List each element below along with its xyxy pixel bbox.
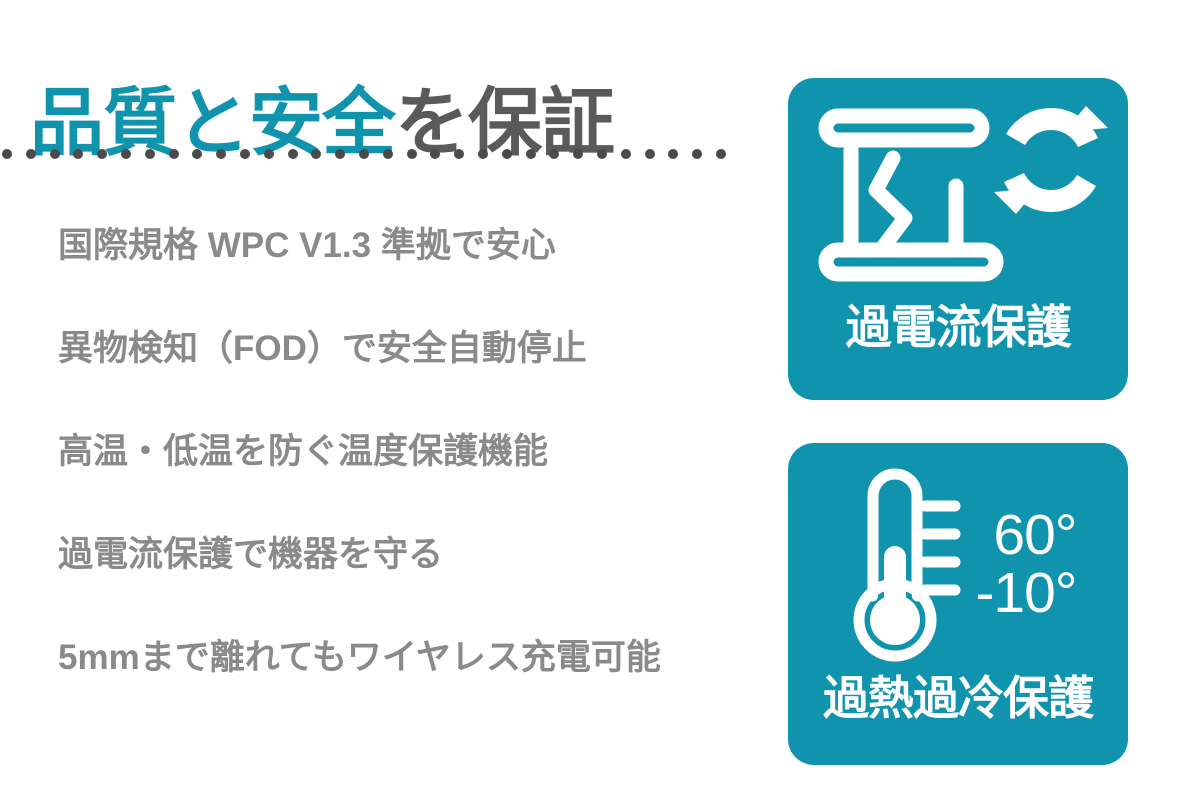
divider-dot — [478, 149, 488, 159]
divider-dot — [169, 149, 179, 159]
divider-dot — [359, 149, 369, 159]
divider-dot — [645, 149, 655, 159]
divider-dot — [335, 149, 345, 159]
feature-item: 5mmまで離れてもワイヤレス充電可能 — [58, 640, 778, 743]
divider-dot — [50, 149, 60, 159]
feature-list: 国際規格 WPC V1.3 準拠で安心異物検知（FOD）で安全自動停止高温・低温… — [58, 228, 778, 743]
temperature-icon-group: 60° -10° — [839, 443, 1076, 675]
divider-dot — [407, 149, 417, 159]
temperature-range: 60° -10° — [975, 506, 1076, 622]
card-temperature: 60° -10° 過熱過冷保護 — [788, 443, 1128, 765]
feature-item: 国際規格 WPC V1.3 準拠で安心 — [58, 228, 778, 331]
divider-dot — [549, 149, 559, 159]
divider-dot — [240, 149, 250, 159]
divider-dot — [573, 149, 583, 159]
divider-dot — [502, 149, 512, 159]
divider-dot — [383, 149, 393, 159]
divider-dot — [454, 149, 464, 159]
card-temperature-label: 過熱過冷保護 — [823, 675, 1093, 721]
feature-item: 過電流保護で機器を守る — [58, 537, 778, 640]
dotted-divider — [2, 146, 772, 162]
temp-low-value: -10° — [975, 564, 1076, 622]
divider-dot — [692, 149, 702, 159]
divider-dot — [288, 149, 298, 159]
divider-dot — [621, 149, 631, 159]
divider-dot — [264, 149, 274, 159]
divider-dot — [526, 149, 536, 159]
divider-dot — [716, 149, 726, 159]
divider-dot — [430, 149, 440, 159]
thermometer-icon — [839, 458, 969, 670]
divider-dot — [216, 149, 226, 159]
divider-dot — [73, 149, 83, 159]
card-overcurrent: 過電流保護 — [788, 78, 1128, 400]
card-overcurrent-label: 過電流保護 — [846, 304, 1071, 350]
divider-dot — [311, 149, 321, 159]
feature-item: 高温・低温を防ぐ温度保護機能 — [58, 434, 778, 537]
divider-dot — [97, 149, 107, 159]
divider-dot — [2, 149, 12, 159]
divider-dot — [192, 149, 202, 159]
divider-dot — [121, 149, 131, 159]
divider-dot — [597, 149, 607, 159]
divider-dot — [26, 149, 36, 159]
divider-dot — [145, 149, 155, 159]
slide-canvas: 品質と安全を保証 国際規格 WPC V1.3 準拠で安心異物検知（FOD）で安全… — [0, 0, 1200, 800]
fuse-reset-icon — [808, 78, 1108, 304]
temp-high-value: 60° — [975, 506, 1076, 564]
feature-item: 異物検知（FOD）で安全自動停止 — [58, 331, 778, 434]
divider-dot — [668, 149, 678, 159]
